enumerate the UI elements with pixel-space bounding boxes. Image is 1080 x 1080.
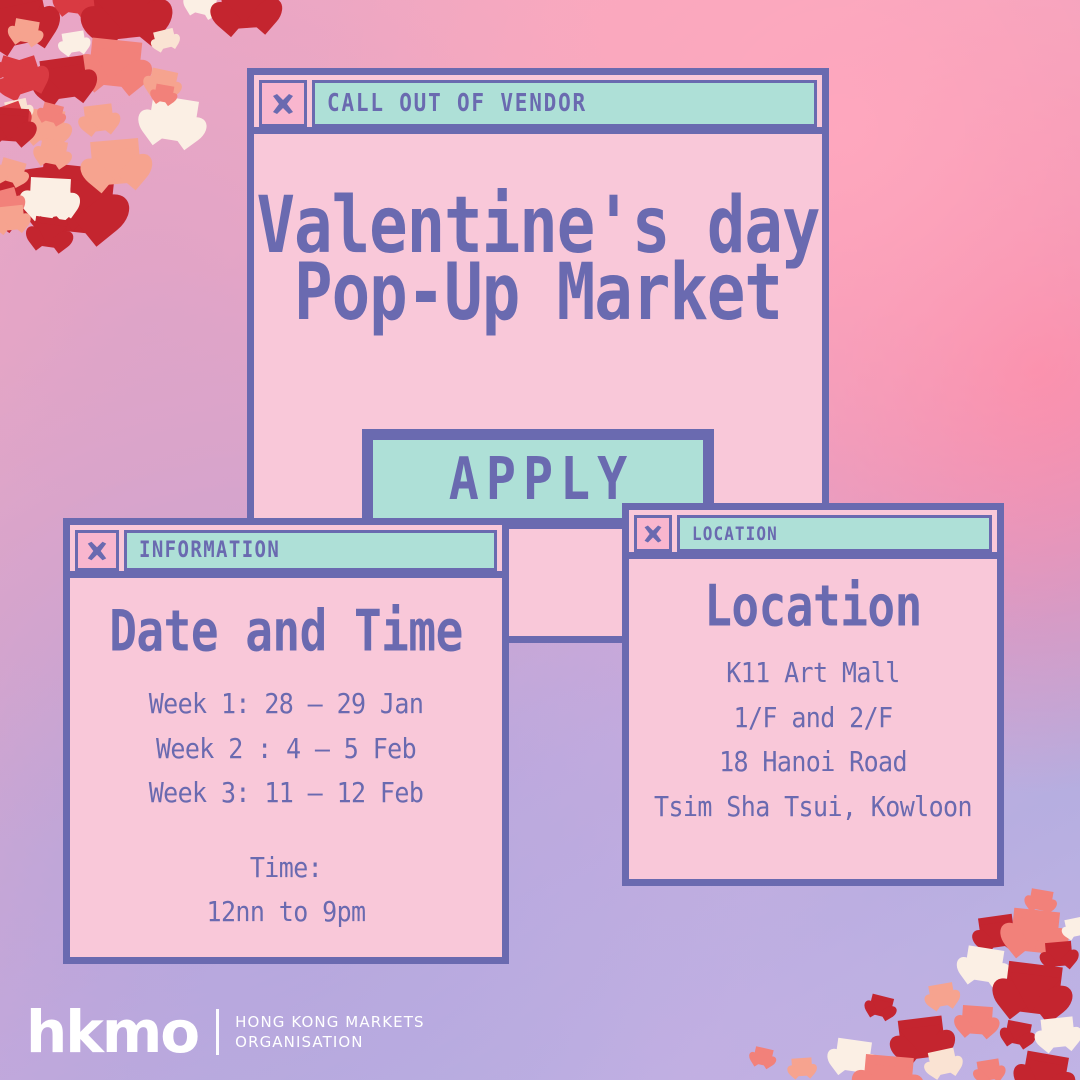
heart-icon <box>29 177 71 216</box>
heart-icon <box>0 157 27 185</box>
heart-icon <box>928 1048 958 1077</box>
week-line: Week 1: 28 – 29 Jan <box>70 679 502 729</box>
heart-icon <box>791 1057 812 1076</box>
close-button-main[interactable] <box>259 80 307 127</box>
heart-icon <box>1021 1051 1069 1080</box>
window-information: INFORMATION Date and Time Week 1: 28 – 2… <box>63 518 509 964</box>
heart-icon <box>1045 941 1073 967</box>
information-heading: Date and Time <box>70 602 502 659</box>
title-strip-information: INFORMATION <box>124 530 497 571</box>
spacer <box>70 816 502 846</box>
window-location: LOCATION Location K11 Art Mall 1/F and 2… <box>622 503 1004 886</box>
headline-line-2: Pop-Up Market <box>294 253 782 334</box>
titlebar-rule-main <box>254 127 822 134</box>
time-label: Time: <box>70 843 502 893</box>
logo-divider <box>216 1009 219 1055</box>
window-title-information: INFORMATION <box>139 539 280 561</box>
apply-button-label: APPLY <box>442 450 635 509</box>
location-line: 18 Hanoi Road <box>629 737 997 787</box>
logo-subtitle: HONG KONG MARKETS ORGANISATION <box>235 1012 424 1053</box>
title-strip-location: LOCATION <box>677 515 992 552</box>
hkmo-logo: hkmo HONG KONG MARKETS ORGANISATION <box>26 1006 425 1058</box>
heart-icon <box>12 18 39 44</box>
heart-icon <box>928 982 955 1008</box>
location-heading: Location <box>629 577 997 634</box>
heart-icon <box>1028 888 1053 912</box>
location-line: 1/F and 2/F <box>629 693 997 743</box>
heart-icon <box>1064 916 1080 938</box>
close-button-location[interactable] <box>634 515 672 552</box>
heart-icon <box>90 138 142 186</box>
close-button-information[interactable] <box>75 530 119 571</box>
heart-icon <box>1041 1016 1076 1048</box>
location-line: Tsim Sha Tsui, Kowloon <box>629 782 997 832</box>
title-strip-main: CALL OUT OF VENDOR <box>312 80 817 127</box>
heart-icon <box>92 0 160 41</box>
week-line: Week 3: 11 – 12 Feb <box>70 768 502 818</box>
heart-icon <box>868 994 894 1019</box>
window-title-location: LOCATION <box>692 524 778 543</box>
heart-icon <box>153 28 177 50</box>
heart-icon <box>862 1054 914 1080</box>
heart-icon <box>0 107 29 142</box>
heart-icon <box>154 84 175 104</box>
window-body-information: Date and Time Week 1: 28 – 29 Jan Week 2… <box>70 578 502 957</box>
location-line: K11 Art Mall <box>629 648 997 698</box>
titlebar-rule-location <box>629 552 997 559</box>
titlebar-rule-information <box>70 571 502 578</box>
heart-icon <box>961 1005 993 1035</box>
heart-icon <box>752 1046 773 1067</box>
heart-icon <box>221 0 272 30</box>
close-x-icon <box>85 539 109 563</box>
time-value: 12nn to 9pm <box>70 887 502 937</box>
close-x-icon <box>270 91 296 117</box>
logo-subtitle-line-1: HONG KONG MARKETS <box>235 1013 424 1031</box>
logo-wordmark: hkmo <box>26 1006 198 1058</box>
week-line: Week 2 : 4 – 5 Feb <box>70 724 502 774</box>
logo-subtitle-line-2: ORGANISATION <box>235 1033 363 1051</box>
heart-icon <box>40 102 64 125</box>
heart-icon <box>0 205 25 232</box>
window-body-location: Location K11 Art Mall 1/F and 2/F 18 Han… <box>629 559 997 879</box>
titlebar-location: LOCATION <box>629 510 997 552</box>
heart-icon <box>62 30 87 53</box>
heart-icon <box>38 138 68 167</box>
heart-icon <box>1004 1020 1032 1046</box>
window-title-main: CALL OUT OF VENDOR <box>327 91 587 116</box>
heart-icon <box>84 103 115 132</box>
poster-canvas: CALL OUT OF VENDOR Valentine's day Pop-U… <box>0 0 1080 1080</box>
titlebar-information: INFORMATION <box>70 525 502 571</box>
titlebar-main: CALL OUT OF VENDOR <box>254 75 822 127</box>
heart-icon <box>1003 961 1063 1016</box>
heart-icon <box>977 1058 1002 1080</box>
close-x-icon <box>642 523 664 545</box>
heart-icon <box>32 216 68 249</box>
